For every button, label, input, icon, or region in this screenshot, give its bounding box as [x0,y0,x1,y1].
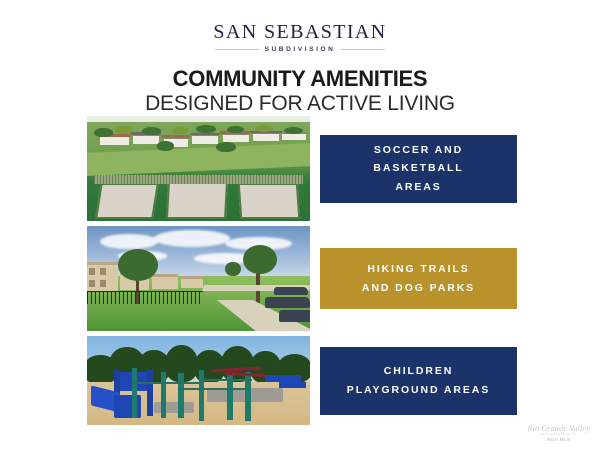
label-line-1: HIKING TRAILS [362,260,475,278]
amenity-row: SOCCER AND BASKETBALL AREAS [87,116,517,221]
label-line-2: BASKETBALL [373,159,463,177]
mls-watermark: Rio Grande Valley Multiple Listing Servi… [528,425,591,442]
amenity-row: HIKING TRAILS AND DOG PARKS [87,226,517,331]
label-line-1: CHILDREN [347,362,490,380]
watermark-mls: RGV MLS [528,437,591,442]
childrens-playground-photo-image [87,336,310,425]
brand-subtitle: SUBDIVISION [265,46,336,53]
page-subtitle: DESIGNED FOR ACTIVE LIVING [0,92,600,116]
label-line-3: AREAS [373,178,463,196]
amenity-row: CHILDREN PLAYGROUND AREAS [87,336,517,425]
page-title: COMMUNITY AMENITIES [0,67,600,90]
amenity-label-children-playground: CHILDREN PLAYGROUND AREAS [320,347,517,415]
label-line-2: PLAYGROUND AREAS [347,381,490,399]
divider-right [341,49,385,50]
page-title-block: COMMUNITY AMENITIES DESIGNED FOR ACTIVE … [0,67,600,116]
amenity-label-soccer-basketball: SOCCER AND BASKETBALL AREAS [320,135,517,203]
aerial-render-sports-courts-image [87,116,310,221]
park-walking-path-render-image [87,226,310,331]
amenity-label-hiking-dog-parks: HIKING TRAILS AND DOG PARKS [320,248,517,309]
label-line-2: AND DOG PARKS [362,279,475,297]
brand-subtitle-row: SUBDIVISION [0,46,600,53]
label-line-1: SOCCER AND [373,141,463,159]
divider-left [215,49,259,50]
amenity-rows: SOCCER AND BASKETBALL AREAS [87,116,517,425]
brand-header: SAN SEBASTIAN SUBDIVISION [0,0,600,53]
brand-name: SAN SEBASTIAN [0,22,600,42]
